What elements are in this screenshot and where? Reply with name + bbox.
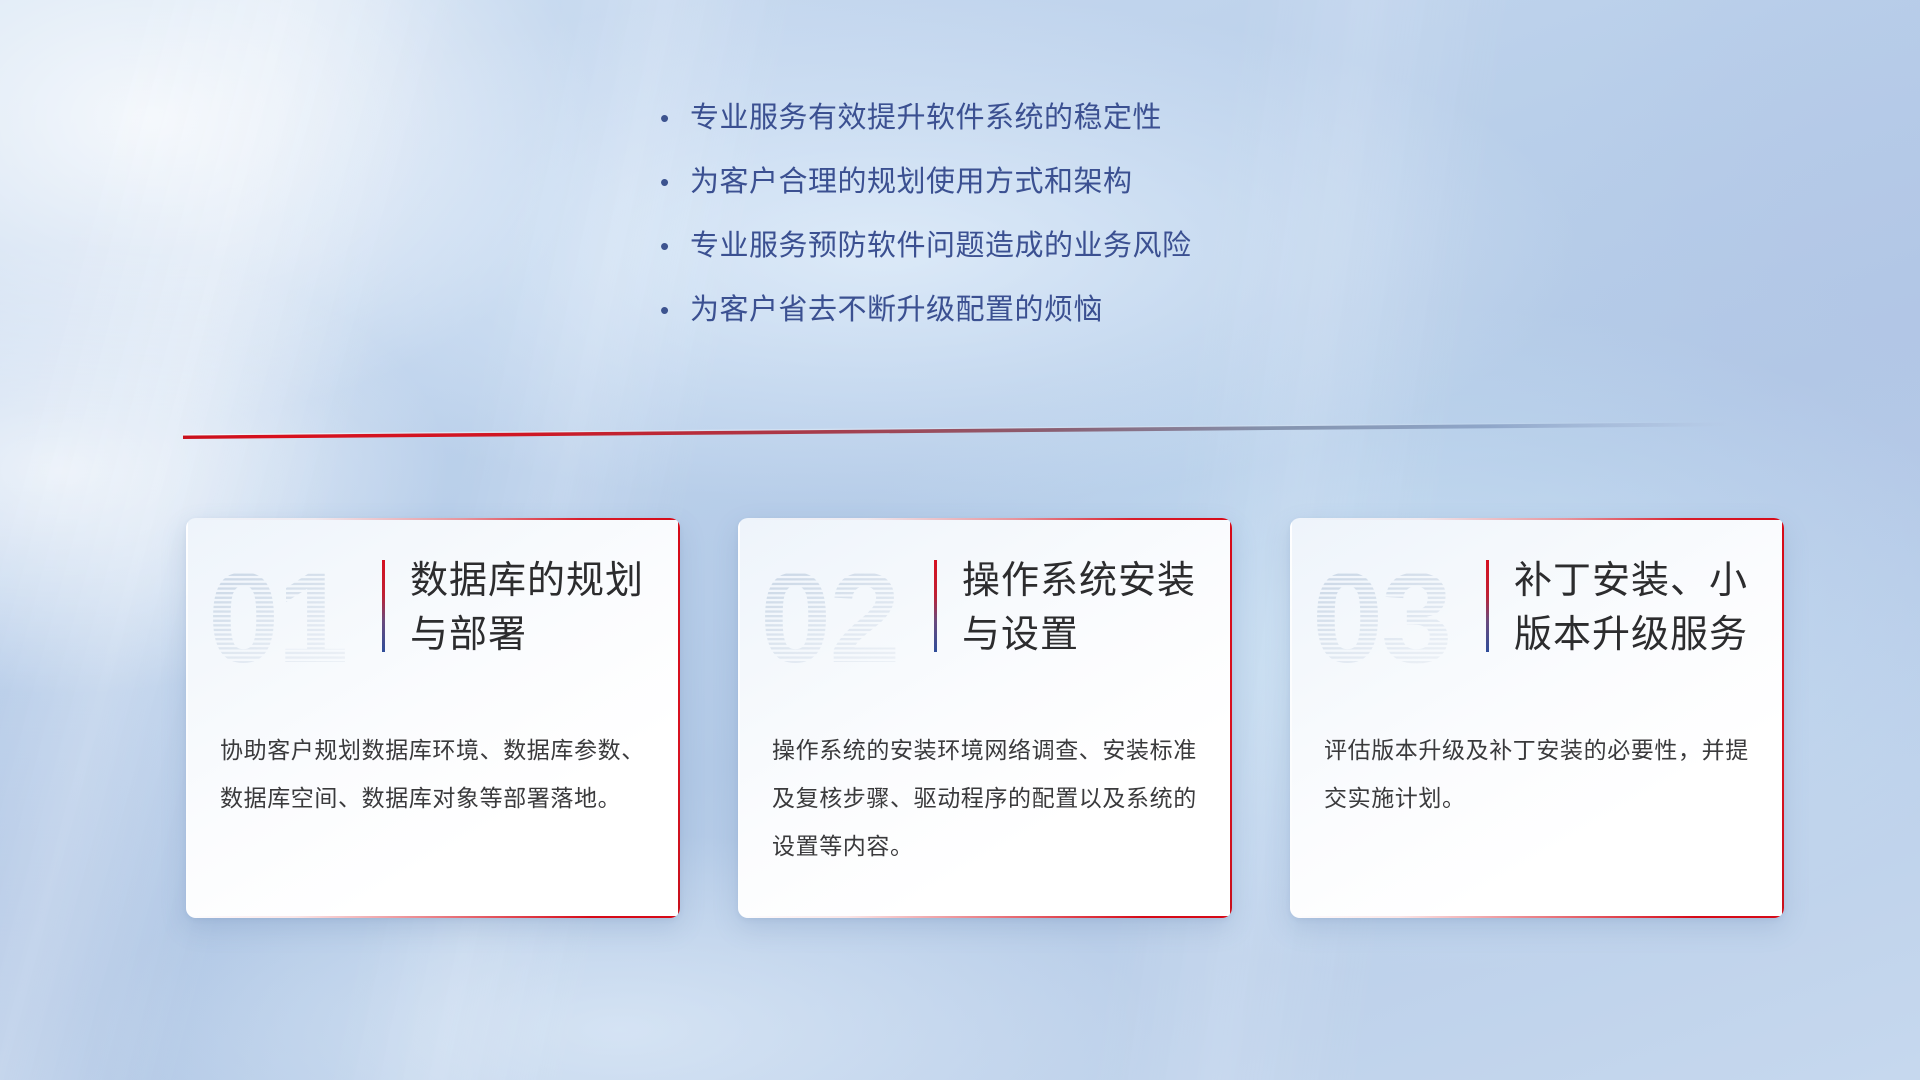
card-header: 数据库的规划与部署 [382, 554, 654, 694]
card-bottom-edge [738, 916, 1232, 918]
card-top-edge [738, 518, 1232, 520]
card-header: 操作系统安装与设置 [934, 554, 1206, 694]
card-right-edge [1782, 518, 1784, 918]
card-title: 补丁安装、小版本升级服务 [1514, 554, 1758, 662]
card-title: 操作系统安装与设置 [962, 554, 1206, 662]
list-item: • 专业服务预防软件问题造成的业务风险 [660, 226, 1420, 290]
bullet-text: 为客户省去不断升级配置的烦恼 [690, 290, 1103, 330]
section-divider [183, 420, 1738, 442]
card-left-edge [738, 518, 740, 918]
card-bottom-edge [1290, 916, 1784, 918]
card-number-watermark: 03 [1308, 546, 1498, 696]
card-accent-bar [1486, 560, 1489, 652]
card-right-edge [1230, 518, 1232, 918]
bullet-dot-icon: • [660, 226, 690, 266]
service-card[interactable]: 01 数据库的规划与部署 协助客户规划数据库环境、数据库参数、数据库空间、数据库… [186, 518, 680, 918]
service-card-row: 01 数据库的规划与部署 协助客户规划数据库环境、数据库参数、数据库空间、数据库… [0, 518, 1920, 928]
card-number-watermark: 02 [756, 546, 946, 696]
list-item: • 为客户合理的规划使用方式和架构 [660, 162, 1420, 226]
card-description: 协助客户规划数据库环境、数据库参数、数据库空间、数据库对象等部署落地。 [220, 726, 646, 822]
card-header: 补丁安装、小版本升级服务 [1486, 554, 1758, 694]
card-accent-bar [382, 560, 385, 652]
card-left-edge [186, 518, 188, 918]
card-description: 评估版本升级及补丁安装的必要性，并提交实施计划。 [1324, 726, 1750, 822]
card-accent-bar [934, 560, 937, 652]
bullet-text: 专业服务有效提升软件系统的稳定性 [690, 98, 1162, 138]
bullet-dot-icon: • [660, 290, 690, 330]
card-top-edge [1290, 518, 1784, 520]
card-description: 操作系统的安装环境网络调查、安装标准及复核步骤、驱动程序的配置以及系统的设置等内… [772, 726, 1198, 870]
service-card[interactable]: 03 补丁安装、小版本升级服务 评估版本升级及补丁安装的必要性，并提交实施计划。 [1290, 518, 1784, 918]
card-top-edge [186, 518, 680, 520]
svg-text:03: 03 [1312, 547, 1450, 690]
list-item: • 专业服务有效提升软件系统的稳定性 [660, 98, 1420, 162]
card-left-edge [1290, 518, 1292, 918]
benefit-bullet-list: • 专业服务有效提升软件系统的稳定性 • 为客户合理的规划使用方式和架构 • 专… [660, 98, 1420, 354]
list-item: • 为客户省去不断升级配置的烦恼 [660, 290, 1420, 354]
bullet-dot-icon: • [660, 98, 690, 138]
bullet-text: 专业服务预防软件问题造成的业务风险 [690, 226, 1192, 266]
card-bottom-edge [186, 916, 680, 918]
svg-text:02: 02 [760, 547, 898, 690]
svg-text:01: 01 [208, 547, 346, 690]
service-card[interactable]: 02 操作系统安装与设置 操作系统的安装环境网络调查、安装标准及复核步骤、驱动程… [738, 518, 1232, 918]
card-number-watermark: 01 [204, 546, 394, 696]
card-right-edge [678, 518, 680, 918]
bullet-dot-icon: • [660, 162, 690, 202]
bullet-text: 为客户合理的规划使用方式和架构 [690, 162, 1133, 202]
card-title: 数据库的规划与部署 [410, 554, 654, 662]
